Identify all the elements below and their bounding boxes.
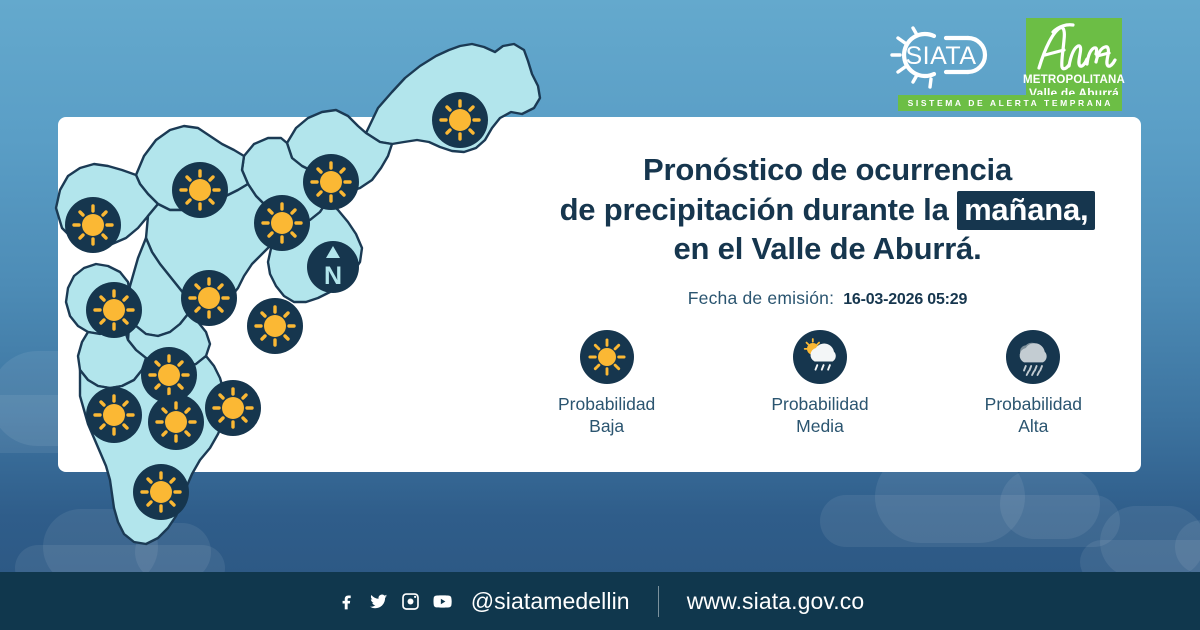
legend-item-baja: Probabilidad Baja bbox=[519, 330, 694, 438]
legend-item-media: Probabilidad Media bbox=[732, 330, 907, 438]
map-svg: N bbox=[48, 30, 568, 575]
marker-caldas bbox=[133, 464, 189, 520]
marker-caldas-north bbox=[148, 394, 204, 450]
compass-letter: N bbox=[324, 262, 342, 290]
background-cloud-icon bbox=[820, 495, 1120, 547]
marker-envigado bbox=[247, 298, 303, 354]
legend-label-media: Probabilidad Media bbox=[732, 393, 907, 438]
valle-de-aburra-map: N bbox=[48, 30, 568, 575]
poster-root: SIATA METROPOLITANA Valle de Aburrá SIST… bbox=[0, 0, 1200, 630]
headline-line3: en el Valle de Aburrá. bbox=[673, 231, 981, 266]
social-handle[interactable]: @siatamedellin bbox=[471, 588, 630, 615]
legend-item-alta: Probabilidad Alta bbox=[946, 330, 1121, 438]
marker-san-pedro bbox=[172, 162, 228, 218]
instagram-icon[interactable] bbox=[400, 591, 421, 612]
twitter-icon[interactable] bbox=[368, 591, 389, 612]
headline-highlight-manana: mañana, bbox=[957, 191, 1095, 230]
probability-legend: Probabilidad Baja Probabilidad Media bbox=[500, 330, 1140, 438]
area-metropolitana-logo: METROPOLITANA Valle de Aburrá bbox=[1026, 18, 1122, 104]
svg-text:SIATA: SIATA bbox=[905, 42, 976, 70]
legend-label-alta: Probabilidad Alta bbox=[946, 393, 1121, 438]
forecast-info: Pronóstico de ocurrencia de precipitació… bbox=[520, 150, 1135, 309]
youtube-icon[interactable] bbox=[432, 591, 453, 612]
marker-la-estrella bbox=[86, 387, 142, 443]
marker-bello bbox=[65, 197, 121, 253]
emission-date-value: 16-03-2026 05:29 bbox=[843, 291, 967, 309]
headline-line1: Pronóstico de ocurrencia bbox=[643, 152, 1012, 187]
siata-logo-icon: SIATA bbox=[872, 18, 1012, 92]
marker-copacabana bbox=[254, 195, 310, 251]
sun-icon bbox=[580, 330, 634, 384]
page-title: Pronóstico de ocurrencia de precipitació… bbox=[520, 150, 1135, 269]
emission-date-row: Fecha de emisión: 16-03-2026 05:29 bbox=[520, 288, 1135, 309]
area-logo-line1: METROPOLITANA bbox=[1023, 74, 1125, 87]
siata-tagline: SISTEMA DE ALERTA TEMPRANA bbox=[898, 95, 1122, 111]
logo-bar: SIATA METROPOLITANA Valle de Aburrá bbox=[872, 18, 1122, 104]
website-url[interactable]: www.siata.gov.co bbox=[687, 588, 865, 615]
rain-cloud-icon bbox=[1006, 330, 1060, 384]
footer-divider bbox=[658, 586, 659, 617]
marker-barbosa bbox=[432, 92, 488, 148]
marker-sabaneta bbox=[141, 347, 197, 403]
facebook-icon[interactable] bbox=[336, 591, 357, 612]
social-icons bbox=[336, 591, 453, 612]
footer-bar: @siatamedellin www.siata.gov.co bbox=[0, 572, 1200, 630]
marker-medellin bbox=[181, 270, 237, 326]
area-script-icon bbox=[1031, 22, 1117, 74]
legend-label-baja: Probabilidad Baja bbox=[519, 393, 694, 438]
compass-north-icon: N bbox=[307, 241, 359, 293]
sun-rain-cloud-icon bbox=[793, 330, 847, 384]
headline-line2-before: de precipitación durante la bbox=[560, 192, 958, 227]
emission-date-label: Fecha de emisión: bbox=[688, 288, 834, 309]
marker-itagui bbox=[86, 282, 142, 338]
marker-envigado-south bbox=[205, 380, 261, 436]
marker-girardota bbox=[303, 154, 359, 210]
